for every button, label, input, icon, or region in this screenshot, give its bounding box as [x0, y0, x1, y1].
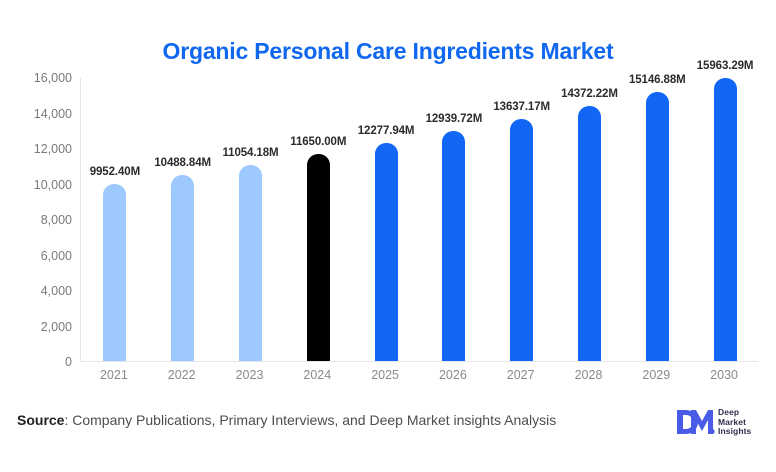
- plot-area: 9952.40M10488.84M11054.18M11650.00M12277…: [80, 78, 758, 362]
- y-axis-tick: 14,000: [0, 107, 72, 121]
- x-axis-tick-2028: 2028: [575, 368, 603, 382]
- x-axis-tick-2030: 2030: [710, 368, 738, 382]
- x-axis: 2021202220232024202520262027202820292030: [80, 368, 758, 388]
- x-axis-tick-2023: 2023: [236, 368, 264, 382]
- y-axis-tick: 4,000: [0, 284, 72, 298]
- y-axis-tick: 6,000: [0, 249, 72, 263]
- chart-footer: Source: Company Publications, Primary In…: [0, 400, 776, 472]
- x-axis-tick-2026: 2026: [439, 368, 467, 382]
- source-note: Source: Company Publications, Primary In…: [17, 412, 556, 428]
- y-axis-tick: 10,000: [0, 178, 72, 192]
- y-axis-tick: 12,000: [0, 142, 72, 156]
- x-axis-tick-2029: 2029: [642, 368, 670, 382]
- bar-value-label-2023: 11054.18M: [222, 147, 278, 159]
- x-axis-tick-2025: 2025: [371, 368, 399, 382]
- bar-2029[interactable]: [646, 92, 669, 361]
- x-axis-tick-2021: 2021: [100, 368, 128, 382]
- bar-2030[interactable]: [714, 78, 737, 361]
- bar-value-label-2028: 14372.22M: [561, 88, 618, 100]
- y-axis-tick: 8,000: [0, 213, 72, 227]
- x-axis-tick-2024: 2024: [303, 368, 331, 382]
- bar-2027[interactable]: [510, 119, 533, 361]
- page-title: Organic Personal Care Ingredients Market: [0, 38, 776, 65]
- x-axis-tick-2022: 2022: [168, 368, 196, 382]
- bar-value-label-2030: 15963.29M: [697, 60, 754, 72]
- bar-value-label-2024: 11650.00M: [290, 136, 346, 148]
- bar-value-label-2027: 13637.17M: [493, 101, 550, 113]
- bar-2025[interactable]: [375, 143, 398, 361]
- y-axis-tick: 0: [0, 355, 72, 369]
- bar-value-label-2021: 9952.40M: [90, 166, 140, 178]
- y-axis: 02,0004,0006,0008,00010,00012,00014,0001…: [0, 78, 72, 362]
- bar-2026[interactable]: [442, 131, 465, 361]
- bar-value-label-2022: 10488.84M: [154, 157, 211, 169]
- y-axis-tick: 2,000: [0, 320, 72, 334]
- bar-value-label-2026: 12939.72M: [426, 113, 483, 125]
- source-body: : Company Publications, Primary Intervie…: [64, 412, 556, 428]
- logo-wordmark: Deep Market Insights: [718, 408, 751, 437]
- deep-market-insights-logo: Deep Market Insights: [676, 405, 768, 441]
- x-axis-tick-2027: 2027: [507, 368, 535, 382]
- y-axis-tick: 16,000: [0, 71, 72, 85]
- bar-2024[interactable]: [307, 154, 330, 361]
- bar-value-label-2029: 15146.88M: [629, 74, 686, 86]
- bar-2023[interactable]: [239, 165, 262, 361]
- bar-value-label-2025: 12277.94M: [358, 125, 415, 137]
- logo-line-3: Insights: [718, 427, 751, 437]
- dm-monogram-icon: [676, 408, 716, 441]
- bar-2028[interactable]: [578, 106, 601, 361]
- bar-2021[interactable]: [103, 184, 126, 361]
- chart-card: Organic Personal Care Ingredients Market…: [0, 0, 776, 472]
- bar-2022[interactable]: [171, 175, 194, 361]
- source-label: Source: [17, 412, 64, 428]
